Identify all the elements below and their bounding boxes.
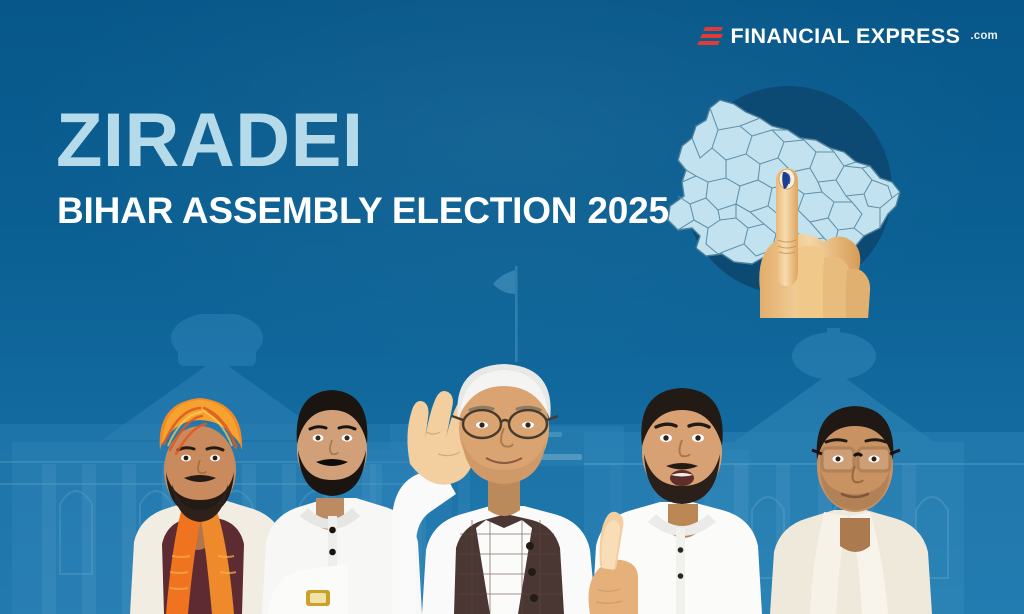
constituency-title: ZIRADEI: [56, 106, 676, 176]
election-subtitle: BIHAR ASSEMBLY ELECTION 2025: [57, 192, 676, 229]
election-banner: FINANCIAL EXPRESS .com ZIRADEI BIHAR ASS…: [0, 0, 1024, 614]
brand-domain-suffix: .com: [970, 31, 998, 43]
brand-name: FINANCIAL EXPRESS: [731, 26, 961, 48]
headline-block: ZIRADEI BIHAR ASSEMBLY ELECTION 2025: [56, 106, 676, 229]
financial-express-logo-icon: [698, 26, 722, 48]
financial-express-logo[interactable]: FINANCIAL EXPRESS .com: [698, 22, 998, 52]
politician-portrait-prashant-kishor: [754, 370, 969, 614]
politician-lineup: [0, 274, 1024, 614]
